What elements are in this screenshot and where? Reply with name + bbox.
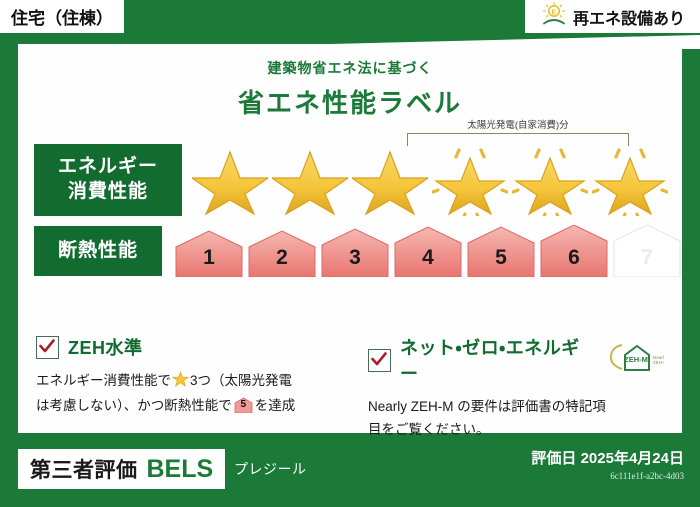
zeh-criteria-block: ZEH水準 エネルギー消費性能で 3つ（太陽光発電 は考慮しない）、かつ断熱性能…: [18, 334, 350, 441]
insulation-step-empty: 7: [612, 225, 682, 277]
inline-star-icon: [172, 371, 189, 394]
star-solar: [512, 144, 588, 216]
energy-label-line1: エネルギー: [58, 155, 158, 180]
zeh-checkbox[interactable]: [36, 336, 59, 359]
star-plain: [272, 144, 348, 216]
insulation-step-number: 7: [612, 246, 682, 270]
star-solar: [432, 144, 508, 216]
zeh-description: エネルギー消費性能で 3つ（太陽光発電 は考慮しない）、かつ断熱性能で 5 を達…: [36, 369, 332, 417]
brand-name: プレジール: [234, 459, 307, 479]
insulation-step-number: 1: [174, 246, 244, 270]
nzeb-desc-line1: Nearly ZEH-M の要件は評価書の特記項: [368, 399, 606, 414]
insulation-step-number: 5: [466, 246, 536, 270]
insulation-step-number: 2: [247, 246, 317, 270]
energy-label-line2: 消費性能: [68, 180, 148, 205]
nzeb-heading-row: ネット・ゼロ・エネルギー ZEH-M Nearly ZEH-M: [368, 334, 664, 386]
bels-badge: 第三者評価 BELS: [18, 449, 225, 489]
insulation-step: 6: [539, 225, 609, 277]
nzeb-criteria-block: ネット・ゼロ・エネルギー ZEH-M Nearly ZEH-M Nearly Z…: [350, 334, 682, 441]
inline-house-level: 5: [234, 396, 253, 413]
check-icon: [371, 352, 387, 367]
evaluation-date: 評価日 2025年4月24日: [531, 447, 684, 468]
insulation-step-number: 6: [539, 246, 609, 270]
energy-performance-label: 住宅（住棟） E 再エネ設備あり: [0, 0, 700, 507]
label-card: 建築物省エネ法に基づく 省エネ性能ラベル エネルギー 消費性能 太陽光発電(自家…: [18, 44, 682, 433]
renewable-energy-badge: E 再エネ設備あり: [525, 0, 700, 33]
category-tab: 住宅（住棟）: [0, 0, 124, 33]
solar-bracket: 太陽光発電(自家消費)分: [407, 118, 629, 142]
insulation-step-number: 3: [320, 246, 390, 270]
insulation-step: 4: [393, 225, 463, 277]
zeh-desc-part2: は考慮しない）、かつ断熱性能で: [36, 398, 232, 413]
inline-house-badge: 5: [234, 397, 253, 413]
solar-sun-icon: E: [541, 2, 567, 31]
zeh-desc-part1: エネルギー消費性能で: [36, 373, 171, 388]
renewable-badge-label: 再エネ設備あり: [573, 5, 685, 29]
solar-bracket-note: 太陽光発電(自家消費)分: [407, 117, 629, 131]
performance-rows: エネルギー 消費性能 太陽光発電(自家消費)分: [18, 144, 682, 286]
star-rating: [182, 144, 682, 216]
svg-text:E: E: [552, 9, 557, 16]
insulation-rating-area: 1 2 3: [162, 225, 682, 277]
check-icon: [39, 339, 55, 354]
star-plain: [352, 144, 428, 216]
label-subtitle: 建築物省エネ法に基づく: [18, 58, 682, 78]
bels-name-label: BELS: [147, 455, 214, 484]
insulation-step: 5: [466, 225, 536, 277]
insulation-scale: 1 2 3: [162, 225, 682, 277]
insulation-performance-row: 断熱性能 1: [18, 225, 682, 277]
zeh-heading-row: ZEH水準: [36, 334, 332, 360]
svg-text:ZEH-M: ZEH-M: [653, 360, 664, 365]
star-solar: [592, 144, 668, 216]
zeh-m-logo-icon: ZEH-M Nearly ZEH-M: [608, 343, 664, 378]
energy-performance-row: エネルギー 消費性能 太陽光発電(自家消費)分: [18, 144, 682, 216]
category-tab-label: 住宅（住棟）: [11, 4, 113, 29]
zeh-desc-stars: 3つ（太陽光発電: [190, 373, 292, 388]
nzeb-heading: ネット・ゼロ・エネルギー: [400, 334, 595, 386]
zeh-heading: ZEH水準: [68, 334, 143, 360]
insulation-performance-label-box: 断熱性能: [34, 226, 162, 276]
insulation-step: 1: [174, 225, 244, 277]
zeh-desc-part3: を達成: [255, 398, 296, 413]
criteria-columns: ZEH水準 エネルギー消費性能で 3つ（太陽光発電 は考慮しない）、かつ断熱性能…: [18, 334, 682, 441]
evaluation-date-block: 評価日 2025年4月24日 6c111e1f-a2bc-4d03: [531, 447, 684, 481]
label-footer: 第三者評価 BELS プレジール 評価日 2025年4月24日 6c111e1f…: [0, 433, 700, 507]
svg-text:ZEH-M: ZEH-M: [624, 355, 648, 364]
nzeb-checkbox[interactable]: [368, 349, 391, 372]
insulation-step: 3: [320, 225, 390, 277]
document-id: 6c111e1f-a2bc-4d03: [531, 471, 684, 481]
label-title: 省エネ性能ラベル: [18, 83, 682, 120]
star-plain: [192, 144, 268, 216]
insulation-label: 断熱性能: [58, 239, 138, 264]
bels-prefix-label: 第三者評価: [30, 454, 138, 484]
insulation-step: 2: [247, 225, 317, 277]
insulation-step-number: 4: [393, 246, 463, 270]
energy-performance-label-box: エネルギー 消費性能: [34, 144, 182, 216]
energy-rating-area: 太陽光発電(自家消費)分: [182, 144, 682, 216]
